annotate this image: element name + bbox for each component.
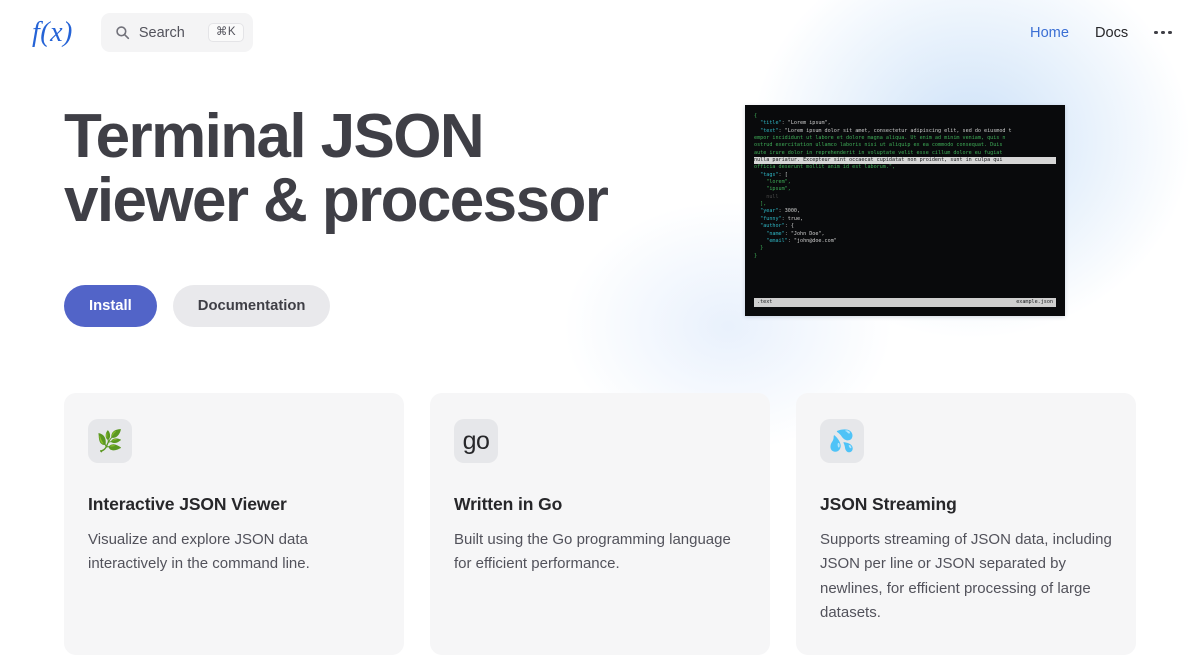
documentation-button[interactable]: Documentation bbox=[173, 285, 331, 327]
terminal-line: "lorem", bbox=[754, 179, 1056, 186]
terminal-line: null bbox=[754, 194, 1056, 201]
top-navigation-bar: f(x) Search ⌘K Home Docs bbox=[0, 0, 1200, 65]
droplets-icon: 💦 bbox=[820, 419, 864, 463]
terminal-line: ostrud exercitation ullamco laboris nisi… bbox=[754, 142, 1056, 149]
terminal-line: nulla pariatur. Excepteur sint occaecat … bbox=[754, 157, 1056, 164]
leaf-icon: 🌿 bbox=[88, 419, 132, 463]
feature-card-title: Written in Go bbox=[454, 494, 746, 515]
terminal-line: } bbox=[754, 245, 1056, 252]
terminal-line: "title": "Lorem ipsum", bbox=[754, 120, 1056, 127]
search-input[interactable]: Search ⌘K bbox=[101, 13, 253, 52]
terminal-filename-label: example.json bbox=[1016, 298, 1053, 307]
feature-card-streaming: 💦 JSON Streaming Supports streaming of J… bbox=[796, 393, 1136, 655]
search-icon bbox=[115, 25, 130, 40]
terminal-line: "name": "John Doe", bbox=[754, 231, 1056, 238]
hero-text-column: Terminal JSON viewer & processor Install… bbox=[64, 105, 704, 405]
install-button[interactable]: Install bbox=[64, 285, 157, 327]
terminal-line: "author": { bbox=[754, 223, 1056, 230]
feature-card-description: Supports streaming of JSON data, includi… bbox=[820, 528, 1112, 625]
terminal-line: ], bbox=[754, 201, 1056, 208]
hero-cta-row: Install Documentation bbox=[64, 285, 704, 327]
hero-section: Terminal JSON viewer & processor Install… bbox=[0, 65, 1200, 405]
terminal-line: "text": "Lorem ipsum dolor sit amet, con… bbox=[754, 128, 1056, 135]
nav-links: Home Docs bbox=[1030, 25, 1174, 41]
feature-card-viewer: 🌿 Interactive JSON Viewer Visualize and … bbox=[64, 393, 404, 655]
terminal-line: } bbox=[754, 253, 1056, 260]
terminal-line: "funny": true, bbox=[754, 216, 1056, 223]
feature-card-title: JSON Streaming bbox=[820, 494, 1112, 515]
search-shortcut-badge: ⌘K bbox=[208, 23, 244, 43]
terminal-line: officia deserunt mollit anim id est labo… bbox=[754, 164, 1056, 171]
hero-media-column: { "title": "Lorem ipsum", "text": "Lorem… bbox=[704, 105, 1168, 405]
nav-link-home[interactable]: Home bbox=[1030, 25, 1069, 41]
terminal-line: "tags": [ bbox=[754, 172, 1056, 179]
feature-cards: 🌿 Interactive JSON Viewer Visualize and … bbox=[0, 393, 1200, 655]
site-logo[interactable]: f(x) bbox=[32, 19, 83, 47]
more-menu-icon[interactable] bbox=[1152, 27, 1174, 39]
feature-card-description: Visualize and explore JSON data interact… bbox=[88, 528, 380, 577]
terminal-content: { "title": "Lorem ipsum", "text": "Lorem… bbox=[745, 105, 1065, 260]
terminal-status-bar: .text example.json bbox=[754, 298, 1056, 307]
terminal-line: "year": 3000, bbox=[754, 208, 1056, 215]
feature-card-title: Interactive JSON Viewer bbox=[88, 494, 380, 515]
search-placeholder-text: Search bbox=[139, 25, 199, 41]
terminal-line: "email": "john@doe.com" bbox=[754, 238, 1056, 245]
terminal-screenshot: { "title": "Lorem ipsum", "text": "Lorem… bbox=[745, 105, 1065, 316]
go-logo-icon: go bbox=[454, 419, 498, 463]
terminal-line: "ipsum", bbox=[754, 186, 1056, 193]
terminal-mode-label: .text bbox=[757, 298, 772, 307]
nav-link-docs[interactable]: Docs bbox=[1095, 25, 1128, 41]
terminal-line: { bbox=[754, 113, 1056, 120]
terminal-line: aute irure dolor in reprehenderit in vol… bbox=[754, 150, 1056, 157]
feature-card-description: Built using the Go programming language … bbox=[454, 528, 746, 577]
terminal-line: empor incididunt ut labore et dolore mag… bbox=[754, 135, 1056, 142]
page-title: Terminal JSON viewer & processor bbox=[64, 105, 704, 233]
feature-card-go: go Written in Go Built using the Go prog… bbox=[430, 393, 770, 655]
